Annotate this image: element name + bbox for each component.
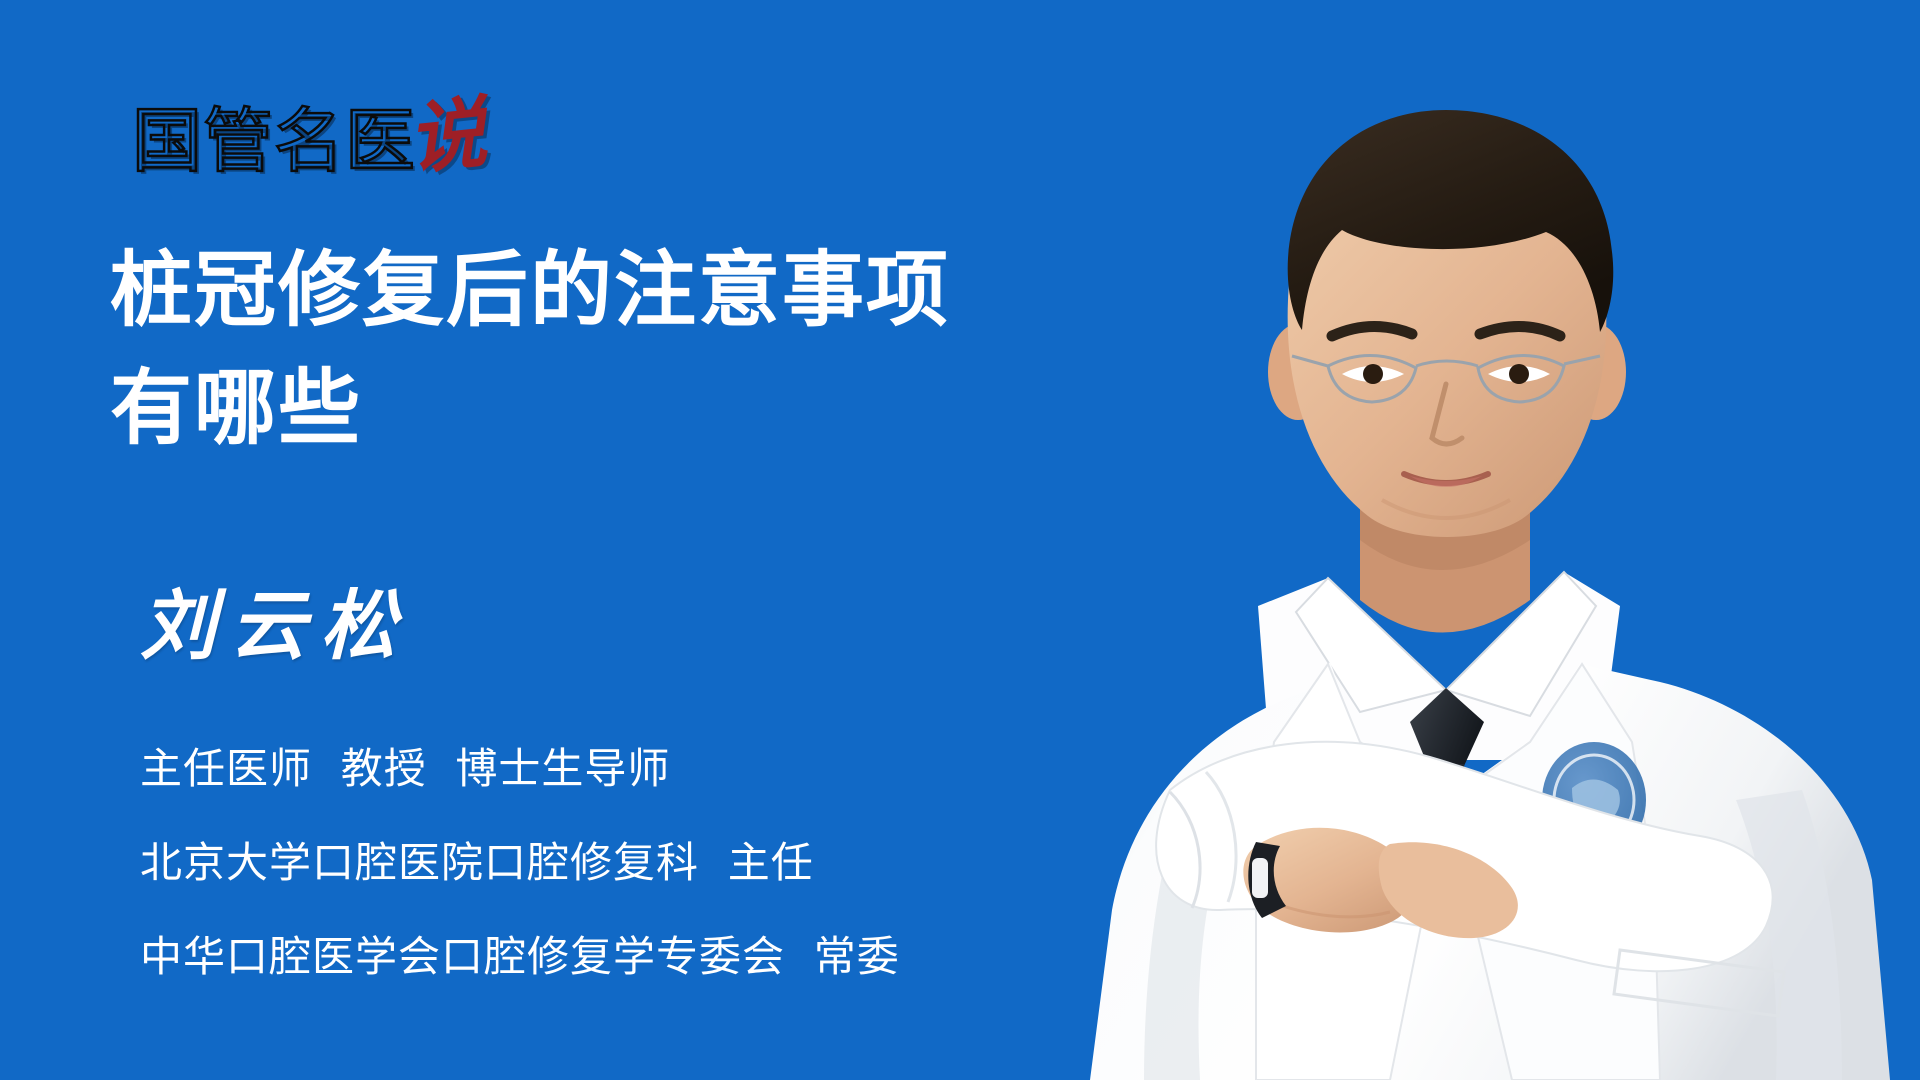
- page-title-line-1: 桩冠修复后的注意事项: [110, 232, 1170, 350]
- page-title-line-2: 有哪些: [110, 350, 1170, 468]
- credential-line-1: 主任医师 教授 博士生导师: [140, 722, 900, 816]
- credential-line-2: 北京大学口腔医院口腔修复科 主任: [140, 816, 900, 910]
- promo-card: 国管名医 说 桩冠修复后的注意事项 有哪些 刘云松 主任医师 教授 博士生导师 …: [0, 0, 1920, 1080]
- brand-logo: 国管名医 说: [132, 96, 490, 178]
- watch-face: [1252, 858, 1268, 898]
- text-column: 国管名医 说 桩冠修复后的注意事项 有哪些 刘云松 主任医师 教授 博士生导师 …: [0, 0, 1180, 1080]
- brand-logo-accent-text: 说: [404, 96, 489, 178]
- presenter-credentials: 主任医师 教授 博士生导师 北京大学口腔医院口腔修复科 主任 中华口腔医学会口腔…: [140, 722, 900, 1004]
- brand-logo-main-text: 国管名医: [132, 104, 416, 178]
- pupil-right: [1509, 364, 1529, 384]
- presenter-name: 刘云松: [140, 584, 410, 668]
- page-title: 桩冠修复后的注意事项 有哪些: [110, 232, 1170, 468]
- pupil-left: [1363, 364, 1383, 384]
- credential-line-3: 中华口腔医学会口腔修复学专委会 常委: [140, 910, 900, 1004]
- doctor-portrait-photo: 中国医药信息查询平台: [1060, 0, 1920, 1080]
- doctor-portrait-illustration: 中国医药信息查询平台: [1060, 0, 1920, 1080]
